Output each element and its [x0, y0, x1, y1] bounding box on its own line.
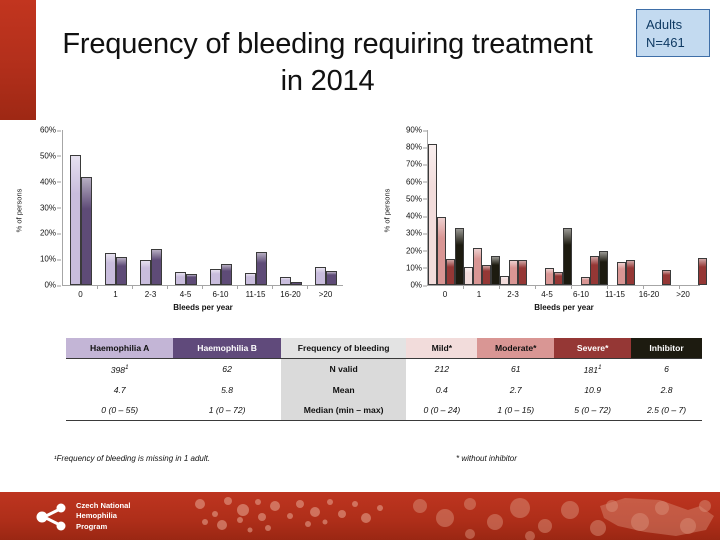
bar-group [238, 130, 273, 285]
bar [581, 277, 590, 285]
bar [662, 270, 671, 286]
bar [554, 272, 563, 285]
bar [446, 259, 455, 285]
bar [482, 265, 491, 285]
chart-right-x-tick-label: >20 [666, 290, 700, 299]
table-cell: 2.7 [477, 380, 554, 400]
bar [545, 268, 554, 285]
bar [140, 260, 151, 285]
table-body: 398162N valid21261181164.75.8Mean0.42.71… [66, 359, 702, 421]
chart-right-y-tick: 90% [392, 126, 422, 135]
table-cell: 2.8 [631, 380, 702, 400]
bar [221, 264, 232, 285]
bar [518, 260, 527, 285]
slide-root: Frequency of bleeding requiring treatmen… [0, 0, 720, 540]
bar [105, 253, 116, 285]
chart-right-x-tick-label: 0 [428, 290, 462, 299]
bar [437, 217, 446, 285]
chart-left-plot-area: 012-34-56-1011-1516-20>20 Bleeds per yea… [62, 130, 343, 286]
table-cell: 4.7 [66, 380, 173, 400]
table-cell: 1 (0 – 15) [477, 400, 554, 421]
chart-left-x-tick-label: 2-3 [133, 290, 168, 299]
summary-table: Haemophilia AHaemophilia BFrequency of b… [66, 338, 702, 421]
chart-left-x-tick-label: 6-10 [203, 290, 238, 299]
table-cell: N valid [281, 359, 407, 380]
bar-group [500, 130, 536, 285]
chart-right-bar-groups [428, 130, 700, 285]
adults-badge-line1: Adults [646, 16, 709, 34]
chart-left-x-tick-label: 11-15 [238, 290, 273, 299]
footer-org-line2: Hemophilia [76, 511, 130, 521]
chart-right-x-tick-label: 4-5 [530, 290, 564, 299]
chart-left-x-tick-label: 16-20 [273, 290, 308, 299]
chart-left-x-tick-label: 1 [98, 290, 133, 299]
bar [291, 282, 302, 285]
table-header-cell: Severe* [554, 338, 631, 359]
chart-left-y-tick: 10% [26, 255, 56, 264]
table-cell: 62 [173, 359, 280, 380]
chart-left-y-axis-label: % of persons [12, 130, 26, 290]
chart-right-x-tick-label: 16-20 [632, 290, 666, 299]
chart-right-x-tick-label: 6-10 [564, 290, 598, 299]
chart-right-y-tick: 20% [392, 246, 422, 255]
bar [491, 256, 500, 285]
bar [464, 267, 473, 285]
table-cell: Mean [281, 380, 407, 400]
chart-left-y-tick: 30% [26, 203, 56, 212]
footer-bar: Czech National Hemophilia Program [0, 492, 720, 540]
bar [326, 271, 337, 285]
footnote-right: * without inhibitor [456, 454, 517, 463]
bar-group [572, 130, 608, 285]
footer-org-line1: Czech National [76, 501, 130, 511]
bar [116, 257, 127, 285]
table-header-cell: Haemophilia A [66, 338, 173, 359]
table-cell: 0 (0 – 24) [406, 400, 477, 421]
bar-group [168, 130, 203, 285]
bar [186, 274, 197, 285]
chart-right-x-tick-label: 11-15 [598, 290, 632, 299]
adults-badge-line2: N=461 [646, 34, 709, 52]
bar-group [428, 130, 464, 285]
bar [500, 276, 509, 285]
bar-group [98, 130, 133, 285]
page-title: Frequency of bleeding requiring treatmen… [55, 26, 600, 100]
footnote-left: ¹Frequency of bleeding is missing in 1 a… [54, 454, 210, 463]
bar [70, 155, 81, 285]
bar [245, 273, 256, 285]
bar-group [133, 130, 168, 285]
bar [210, 269, 221, 285]
table-cell: 61 [477, 359, 554, 380]
chart-right-x-tick-label: 2-3 [496, 290, 530, 299]
chart-left-y-tick: 0% [26, 281, 56, 290]
bar [151, 249, 162, 285]
table-cell: 10.9 [554, 380, 631, 400]
chart-left-y-tick: 60% [26, 126, 56, 135]
table-header-cell: Mild* [406, 338, 477, 359]
table-cell: 3981 [66, 359, 173, 380]
bar [315, 267, 326, 285]
chart-right-x-ticks: 012-34-56-1011-1516-20>20 [428, 290, 700, 299]
bar [81, 177, 92, 286]
table-header-cell: Moderate* [477, 338, 554, 359]
table-row: 0 (0 – 55)1 (0 – 72)Median (min – max)0 … [66, 400, 702, 421]
chart-left-bar-groups [63, 130, 343, 285]
table-cell: 0 (0 – 55) [66, 400, 173, 421]
table-cell: 2.5 (0 – 7) [631, 400, 702, 421]
bar-group [644, 130, 680, 285]
chart-left-y-tick: 50% [26, 151, 56, 160]
bar [428, 144, 437, 285]
table-row: 398162N valid2126118116 [66, 359, 702, 380]
bar-group [608, 130, 644, 285]
chart-right-plot-area: 012-34-56-1011-1516-20>20 Bleeds per yea… [427, 130, 700, 286]
chart-severity: % of persons 0%10%20%30%40%50%60%70%80%9… [380, 130, 712, 330]
footer-org-name: Czech National Hemophilia Program [76, 501, 130, 532]
bar-group [680, 130, 716, 285]
chart-left-x-tick-label: 4-5 [168, 290, 203, 299]
bar-group [308, 130, 343, 285]
chart-right-y-tick: 30% [392, 229, 422, 238]
bar [698, 258, 707, 285]
left-accent-bar [0, 0, 36, 120]
chart-left-x-tick-label: >20 [308, 290, 343, 299]
bar [455, 228, 464, 285]
table-header-row: Haemophilia AHaemophilia BFrequency of b… [66, 338, 702, 359]
bar [617, 262, 626, 285]
bar [599, 251, 608, 285]
table-cell: 5.8 [173, 380, 280, 400]
chart-left-y-tick: 40% [26, 177, 56, 186]
bar-group [536, 130, 572, 285]
table-cell: 1 (0 – 72) [173, 400, 280, 421]
table-cell: 1811 [554, 359, 631, 380]
bar [626, 260, 635, 285]
chart-left-y-tick: 20% [26, 229, 56, 238]
bar [473, 248, 482, 285]
chart-left-y-ticks: 0%10%20%30%40%50%60% [26, 130, 60, 292]
bar [563, 228, 572, 285]
chart-right-x-axis-label: Bleeds per year [428, 303, 700, 312]
chart-right-y-tick: 10% [392, 263, 422, 272]
table-cell: 212 [406, 359, 477, 380]
bar [509, 260, 518, 285]
chart-right-y-tick: 60% [392, 177, 422, 186]
chart-right-y-tick: 80% [392, 143, 422, 152]
table-cell: 0.4 [406, 380, 477, 400]
table-header-cell: Haemophilia B [173, 338, 280, 359]
chart-right-x-tick-label: 1 [462, 290, 496, 299]
chart-right-y-tick: 40% [392, 212, 422, 221]
table-cell: 6 [631, 359, 702, 380]
table-header-cell: Frequency of bleeding [281, 338, 407, 359]
chart-right-y-tick: 50% [392, 194, 422, 203]
table-cell: Median (min – max) [281, 400, 407, 421]
chart-right-y-tick: 70% [392, 160, 422, 169]
chart-left-x-ticks: 012-34-56-1011-1516-20>20 [63, 290, 343, 299]
bar-group [273, 130, 308, 285]
chart-left-x-tick-label: 0 [63, 290, 98, 299]
table-row: 4.75.8Mean0.42.710.92.8 [66, 380, 702, 400]
adults-badge: Adults N=461 [636, 9, 710, 57]
bar [256, 252, 267, 285]
chart-left-x-axis-label: Bleeds per year [63, 303, 343, 312]
bar [280, 277, 291, 285]
molecule-logo-icon [36, 503, 70, 531]
bar [590, 256, 599, 285]
bar-group [464, 130, 500, 285]
footer-org-line3: Program [76, 522, 130, 532]
table-header-cell: Inhibitor [631, 338, 702, 359]
bar-group [203, 130, 238, 285]
table-cell: 5 (0 – 72) [554, 400, 631, 421]
chart-right-y-ticks: 0%10%20%30%40%50%60%70%80%90% [392, 130, 426, 292]
footer-logo: Czech National Hemophilia Program [36, 501, 130, 532]
bar [175, 272, 186, 285]
chart-right-y-tick: 0% [392, 281, 422, 290]
chart-haemophilia-type: % of persons 0%10%20%30%40%50%60% 012-34… [12, 130, 352, 330]
bar-group [63, 130, 98, 285]
